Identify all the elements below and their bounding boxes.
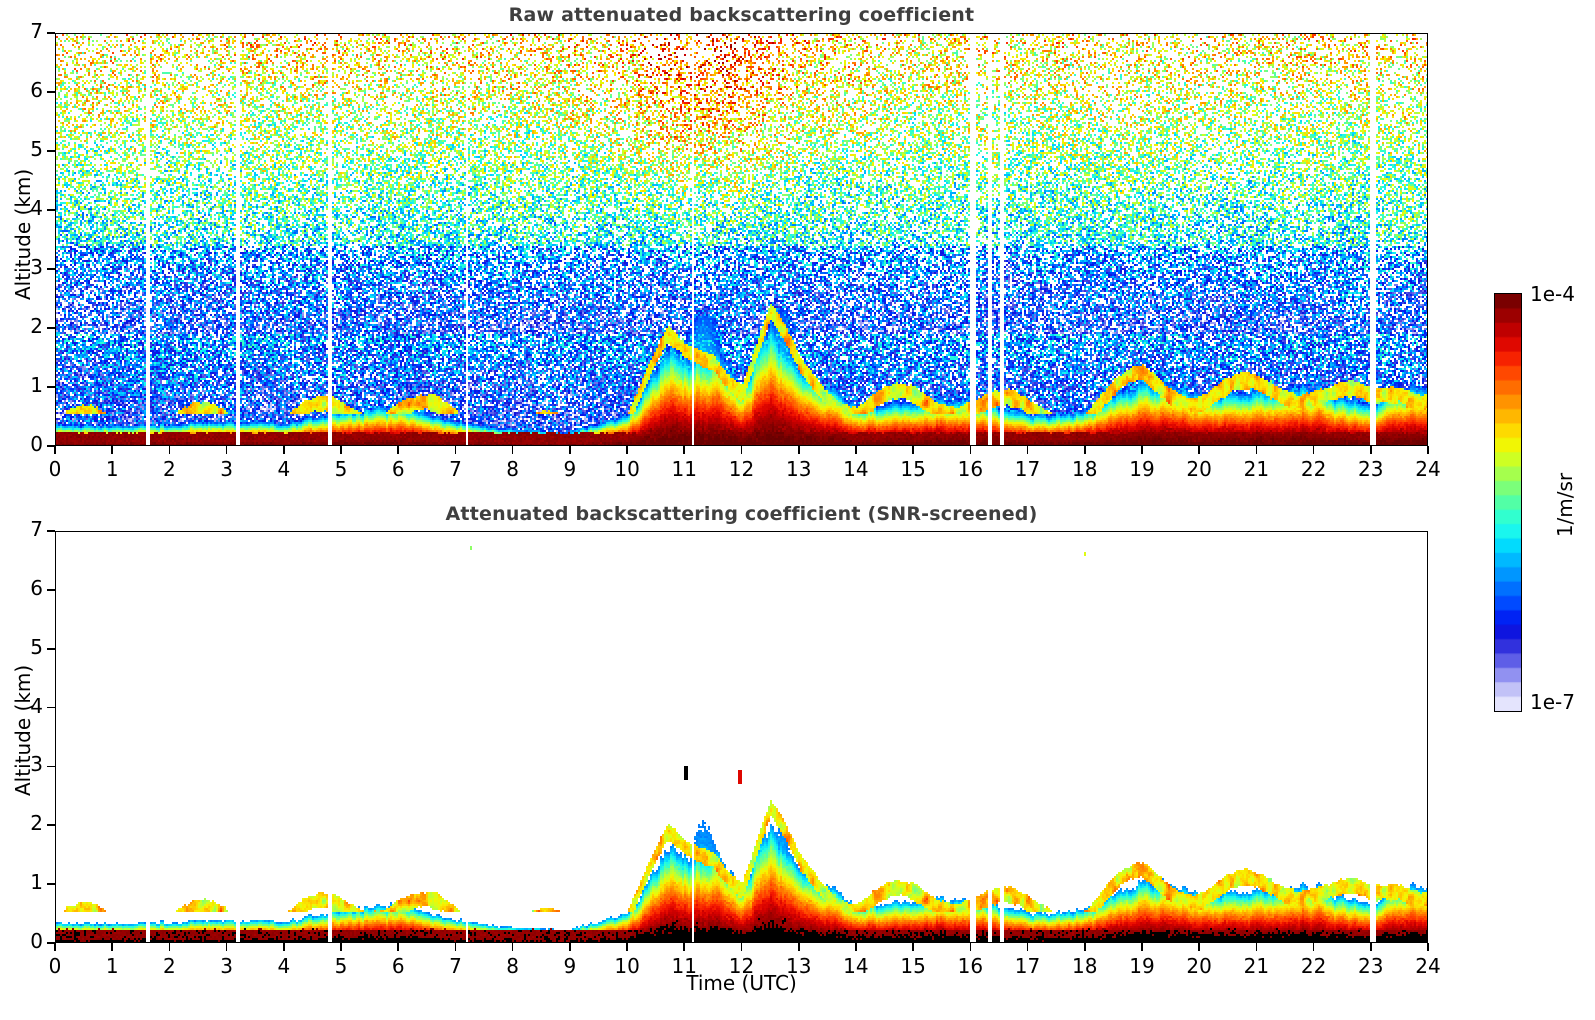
x-tickmark-screened — [1027, 943, 1029, 951]
x-tickmark-screened — [970, 943, 972, 951]
x-tick-label-raw: 8 — [493, 457, 533, 481]
y-tickmark-screened — [47, 766, 55, 768]
y-tick-label-screened: 4 — [9, 694, 43, 718]
x-tick-label-screened: 5 — [321, 954, 361, 978]
x-tickmark-raw — [1370, 446, 1372, 454]
x-tickmark-raw — [912, 446, 914, 454]
y-tick-label-screened: 1 — [9, 870, 43, 894]
x-tick-label-raw: 1 — [92, 457, 132, 481]
x-tick-label-raw: 10 — [607, 457, 647, 481]
y-tickmark-raw — [47, 268, 55, 270]
x-tickmark-screened — [912, 943, 914, 951]
x-tickmark-screened — [1256, 943, 1258, 951]
x-tick-label-screened: 24 — [1408, 954, 1448, 978]
x-tickmark-raw — [1256, 446, 1258, 454]
y-tickmark-raw — [47, 327, 55, 329]
panel-title-screened: Attenuated backscattering coefficient (S… — [55, 503, 1428, 525]
x-tick-label-raw: 9 — [550, 457, 590, 481]
x-tickmark-raw — [1427, 446, 1429, 454]
x-tick-label-screened: 2 — [149, 954, 189, 978]
x-tickmark-screened — [397, 943, 399, 951]
x-tick-label-screened: 6 — [378, 954, 418, 978]
y-tickmark-screened — [47, 942, 55, 944]
y-tickmark-screened — [47, 707, 55, 709]
x-tickmark-raw — [626, 446, 628, 454]
y-tickmark-screened — [47, 530, 55, 532]
x-tickmark-raw — [340, 446, 342, 454]
x-tickmark-raw — [970, 446, 972, 454]
x-tickmark-screened — [1141, 943, 1143, 951]
x-tick-label-raw: 0 — [35, 457, 75, 481]
x-tickmark-screened — [169, 943, 171, 951]
plot-area-raw[interactable] — [55, 33, 1428, 446]
y-tick-label-raw: 0 — [9, 432, 43, 456]
colorbar-max-label: 1e-4 — [1530, 282, 1575, 306]
x-tick-label-raw: 2 — [149, 457, 189, 481]
x-tickmark-screened — [283, 943, 285, 951]
x-tickmark-screened — [741, 943, 743, 951]
plot-area-screened[interactable] — [55, 531, 1428, 943]
x-tick-label-raw: 14 — [836, 457, 876, 481]
x-tick-label-raw: 11 — [664, 457, 704, 481]
colorbar-gradient — [1495, 294, 1521, 711]
x-tick-label-raw: 23 — [1351, 457, 1391, 481]
x-tickmark-screened — [512, 943, 514, 951]
x-tick-label-screened: 4 — [264, 954, 304, 978]
y-tick-label-screened: 3 — [9, 752, 43, 776]
y-tickmark-screened — [47, 824, 55, 826]
y-tick-label-raw: 2 — [9, 314, 43, 338]
x-tick-label-screened: 22 — [1294, 954, 1334, 978]
y-tick-label-screened: 5 — [9, 635, 43, 659]
x-tick-label-raw: 22 — [1294, 457, 1334, 481]
x-tick-label-raw: 5 — [321, 457, 361, 481]
y-tickmark-raw — [47, 445, 55, 447]
x-tickmark-raw — [1198, 446, 1200, 454]
x-tick-label-screened: 8 — [493, 954, 533, 978]
x-tick-label-screened: 15 — [893, 954, 933, 978]
y-tick-label-screened: 7 — [9, 517, 43, 541]
x-tick-label-raw: 20 — [1179, 457, 1219, 481]
y-tickmark-raw — [47, 32, 55, 34]
x-tickmark-raw — [741, 446, 743, 454]
x-tickmark-screened — [626, 943, 628, 951]
x-tick-label-raw: 12 — [722, 457, 762, 481]
x-tick-label-screened: 11 — [664, 954, 704, 978]
y-tick-label-screened: 2 — [9, 811, 43, 835]
panel-title-raw: Raw attenuated backscattering coefficien… — [55, 4, 1428, 26]
x-tickmark-raw — [397, 446, 399, 454]
x-tickmark-raw — [569, 446, 571, 454]
x-tickmark-screened — [1313, 943, 1315, 951]
y-tick-label-raw: 6 — [9, 78, 43, 102]
x-tickmark-raw — [226, 446, 228, 454]
x-tick-label-raw: 16 — [950, 457, 990, 481]
x-tickmark-screened — [340, 943, 342, 951]
x-tick-label-screened: 14 — [836, 954, 876, 978]
y-tick-label-screened: 6 — [9, 576, 43, 600]
x-tickmark-raw — [54, 446, 56, 454]
x-tick-label-screened: 23 — [1351, 954, 1391, 978]
y-tickmark-raw — [47, 209, 55, 211]
y-tickmark-screened — [47, 589, 55, 591]
y-tickmark-raw — [47, 150, 55, 152]
x-tickmark-raw — [855, 446, 857, 454]
x-tickmark-raw — [283, 446, 285, 454]
x-tickmark-raw — [512, 446, 514, 454]
y-tick-label-raw: 5 — [9, 137, 43, 161]
x-tick-label-screened: 20 — [1179, 954, 1219, 978]
x-tick-label-screened: 3 — [207, 954, 247, 978]
x-tick-label-raw: 4 — [264, 457, 304, 481]
x-tick-label-raw: 3 — [207, 457, 247, 481]
y-tickmark-raw — [47, 386, 55, 388]
x-tick-label-screened: 18 — [1065, 954, 1105, 978]
y-tick-label-raw: 3 — [9, 255, 43, 279]
x-tick-label-raw: 15 — [893, 457, 933, 481]
colorbar-unit-label: 1/m/sr — [1553, 445, 1577, 565]
x-tick-label-screened: 0 — [35, 954, 75, 978]
x-tickmark-raw — [1141, 446, 1143, 454]
y-tickmark-screened — [47, 648, 55, 650]
heatmap-canvas-screened — [56, 532, 1428, 943]
x-tick-label-raw: 24 — [1408, 457, 1448, 481]
y-tick-label-screened: 0 — [9, 929, 43, 953]
x-tickmark-raw — [683, 446, 685, 454]
x-tickmark-screened — [111, 943, 113, 951]
y-tickmark-raw — [47, 91, 55, 93]
x-tick-label-screened: 16 — [950, 954, 990, 978]
colorbar — [1494, 293, 1522, 712]
x-tick-label-raw: 18 — [1065, 457, 1105, 481]
x-tickmark-screened — [683, 943, 685, 951]
x-tickmark-raw — [111, 446, 113, 454]
x-tickmark-raw — [1027, 446, 1029, 454]
x-tick-label-raw: 19 — [1122, 457, 1162, 481]
x-tick-label-raw: 7 — [435, 457, 475, 481]
x-tick-label-screened: 1 — [92, 954, 132, 978]
x-tickmark-screened — [54, 943, 56, 951]
x-tickmark-raw — [455, 446, 457, 454]
x-tickmark-screened — [1084, 943, 1086, 951]
x-tickmark-raw — [1084, 446, 1086, 454]
x-tick-label-raw: 6 — [378, 457, 418, 481]
colorbar-min-label: 1e-7 — [1530, 690, 1575, 714]
x-tick-label-raw: 21 — [1236, 457, 1276, 481]
x-tickmark-raw — [798, 446, 800, 454]
y-tick-label-raw: 7 — [9, 19, 43, 43]
x-tick-label-screened: 7 — [435, 954, 475, 978]
y-tick-label-raw: 1 — [9, 373, 43, 397]
x-tickmark-screened — [798, 943, 800, 951]
x-tickmark-raw — [1313, 446, 1315, 454]
x-tickmark-screened — [855, 943, 857, 951]
x-tickmark-screened — [455, 943, 457, 951]
x-tickmark-screened — [569, 943, 571, 951]
x-tickmark-screened — [1370, 943, 1372, 951]
x-tickmark-screened — [1427, 943, 1429, 951]
x-tick-label-screened: 12 — [722, 954, 762, 978]
x-tick-label-screened: 19 — [1122, 954, 1162, 978]
x-tick-label-raw: 13 — [779, 457, 819, 481]
x-tick-label-raw: 17 — [1008, 457, 1048, 481]
x-tickmark-screened — [1198, 943, 1200, 951]
x-tick-label-screened: 13 — [779, 954, 819, 978]
x-tick-label-screened: 21 — [1236, 954, 1276, 978]
x-tickmark-raw — [169, 446, 171, 454]
y-tick-label-raw: 4 — [9, 196, 43, 220]
x-tick-label-screened: 9 — [550, 954, 590, 978]
x-tick-label-screened: 10 — [607, 954, 647, 978]
y-tickmark-screened — [47, 883, 55, 885]
heatmap-canvas-raw — [56, 34, 1428, 446]
x-tick-label-screened: 17 — [1008, 954, 1048, 978]
x-tickmark-screened — [226, 943, 228, 951]
